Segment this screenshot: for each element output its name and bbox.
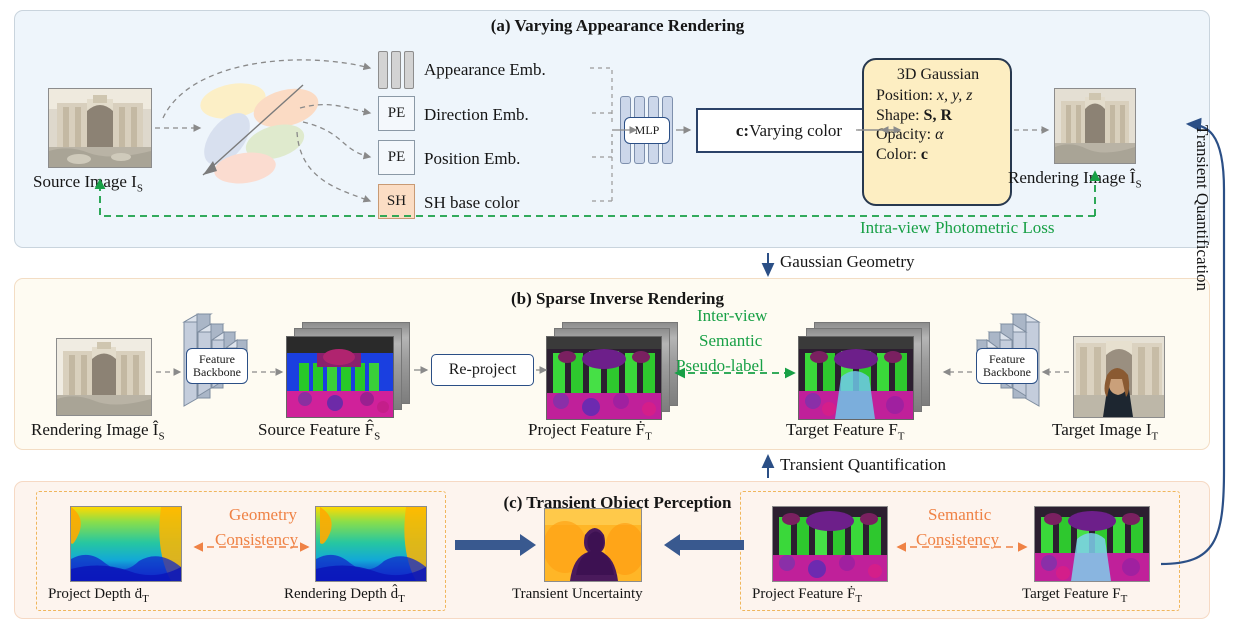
- gaussian-position-key: Position:: [876, 87, 933, 104]
- direction-emb-label: Direction Emb.: [424, 105, 529, 125]
- gaussian-color-row: Color: c: [876, 145, 1000, 165]
- target-feature-label-c-sub: T: [1121, 593, 1128, 605]
- feature-backbone-left-line2: Backbone: [193, 366, 241, 379]
- varying-color-box: c: Varying color: [696, 108, 882, 153]
- source-feature-label-text: Source Feature F̂: [258, 420, 374, 439]
- transient-uncertainty-label: Transient Uncertainty: [512, 586, 643, 603]
- rendering-image-thumbnail-a: [1054, 88, 1136, 164]
- project-feature-label-c-sub: T: [855, 593, 862, 605]
- source-image-thumbnail: [48, 88, 152, 168]
- geometry-consistency-line2: Consistency: [215, 530, 298, 550]
- rendering-image-thumbnail-b: [56, 338, 152, 416]
- appearance-emb-bar-3: [404, 51, 414, 89]
- varying-color-symbol: c:: [736, 121, 749, 141]
- project-feature-label-c-text: Project Feature Ḟ: [752, 586, 855, 602]
- feature-backbone-left-label: Feature Backbone: [186, 348, 248, 384]
- direction-emb-pe-box: PE: [378, 96, 415, 131]
- target-image-label: Target Image IT: [1052, 420, 1158, 442]
- source-feature-label: Source Feature F̂S: [258, 420, 380, 442]
- target-image-label-text: Target Image I: [1052, 420, 1152, 439]
- transient-quantification-side-label: Transient Quantification: [1192, 125, 1212, 291]
- feature-backbone-right-line2: Backbone: [983, 366, 1031, 379]
- sh-base-color-box: SH: [378, 184, 415, 219]
- 3d-gaussian-box: 3D Gaussian Position: x, y, z Shape: S, …: [862, 58, 1012, 206]
- target-image-label-sub: T: [1152, 430, 1159, 442]
- target-feature-map-c: [1034, 506, 1150, 582]
- panel-a-title: (a) Varying Appearance Rendering: [0, 16, 1235, 36]
- feature-backbone-left-line1: Feature: [199, 353, 235, 366]
- sh-tag: SH: [387, 193, 406, 210]
- intra-view-photometric-loss-label: Intra-view Photometric Loss: [860, 218, 1055, 238]
- rendering-depth-map: [315, 506, 427, 582]
- project-feature-label-b: Project Feature ḞT: [528, 420, 652, 442]
- rendering-depth-label-sub: T: [398, 593, 405, 605]
- transient-uncertainty-map: [544, 508, 642, 582]
- sh-base-color-label: SH base color: [424, 193, 519, 213]
- reproject-box: Re-project: [431, 354, 534, 386]
- gaussian-shape-row: Shape: S, R: [876, 106, 1000, 126]
- source-image-label-text: Source Image I: [33, 172, 137, 191]
- target-image-thumbnail: [1073, 336, 1165, 418]
- rendering-image-label-a-text: Rendering Image Î: [1008, 168, 1135, 187]
- gaussian-color-key: Color:: [876, 146, 917, 163]
- appearance-emb-label: Appearance Emb.: [424, 60, 546, 80]
- pseudo-label-line2: Semantic: [699, 331, 762, 351]
- gaussian-position-value: x, y, z: [933, 87, 973, 104]
- pseudo-label-line3: Pseudo-label: [676, 356, 764, 376]
- target-feature-label-c: Target Feature FT: [1022, 586, 1127, 605]
- project-feature-stack-b: [546, 322, 686, 426]
- feature-backbone-right-line1: Feature: [989, 353, 1025, 366]
- gaussian-shape-value: S, R: [920, 107, 952, 124]
- source-image-label-sub: S: [137, 182, 143, 194]
- semantic-consistency-line2: Consistency: [916, 530, 999, 550]
- target-feature-label-b: Target Feature FT: [786, 420, 905, 442]
- project-feature-map-c: [772, 506, 888, 582]
- reproject-label: Re-project: [449, 361, 517, 379]
- gaussian-opacity-value: α: [931, 126, 943, 143]
- pseudo-label-line1: Inter-view: [697, 306, 767, 326]
- project-depth-label: Project Depth ḋT: [48, 586, 149, 605]
- feature-backbone-right-label: Feature Backbone: [976, 348, 1038, 384]
- panel-b-title: (b) Sparse Inverse Rendering: [0, 289, 1235, 309]
- project-depth-label-text: Project Depth ḋ: [48, 586, 142, 602]
- gaussian-title: 3D Gaussian: [876, 66, 1000, 84]
- position-emb-label: Position Emb.: [424, 149, 520, 169]
- project-feature-label-b-text: Project Feature Ḟ: [528, 420, 645, 439]
- target-feature-label-c-text: Target Feature F: [1022, 586, 1121, 602]
- geometry-consistency-line1: Geometry: [229, 505, 297, 525]
- rendering-image-label-b-sub: S: [158, 430, 164, 442]
- source-image-label: Source Image IS: [33, 172, 143, 194]
- mlp-label: MLP: [635, 123, 660, 138]
- gaussian-opacity-key: Opacity:: [876, 126, 931, 143]
- gaussian-geometry-label: Gaussian Geometry: [780, 252, 915, 272]
- gaussian-position-row: Position: x, y, z: [876, 86, 1000, 106]
- varying-color-text: Varying color: [749, 121, 842, 141]
- source-feature-stack: [286, 322, 412, 422]
- gaussian-shape-key: Shape:: [876, 107, 920, 124]
- pe-tag-direction: PE: [388, 105, 406, 122]
- target-feature-stack-b: [798, 322, 938, 426]
- panel-varying-appearance-rendering: [14, 10, 1210, 248]
- position-emb-pe-box: PE: [378, 140, 415, 175]
- target-feature-label-b-sub: T: [898, 430, 905, 442]
- rendering-image-label-a-sub: S: [1135, 178, 1141, 190]
- target-feature-label-b-text: Target Feature F: [786, 420, 898, 439]
- rendering-image-label-a: Rendering Image ÎS: [1008, 168, 1142, 190]
- source-feature-label-sub: S: [374, 430, 380, 442]
- gaussian-opacity-row: Opacity: α: [876, 125, 1000, 145]
- appearance-emb-bar-1: [378, 51, 388, 89]
- project-depth-map: [70, 506, 182, 582]
- rendering-depth-label-text: Rendering Depth d̂: [284, 586, 398, 602]
- appearance-emb-bar-2: [391, 51, 401, 89]
- project-feature-label-b-sub: T: [645, 430, 652, 442]
- gaussian-color-value: c: [917, 146, 928, 163]
- rendering-image-label-b-text: Rendering Image Î: [31, 420, 158, 439]
- transient-quantification-up-label: Transient Quantification: [780, 455, 946, 475]
- rendering-depth-label: Rendering Depth d̂T: [284, 586, 405, 605]
- pe-tag-position: PE: [388, 149, 406, 166]
- project-depth-label-sub: T: [142, 593, 149, 605]
- mlp-block: MLP: [620, 96, 676, 164]
- semantic-consistency-line1: Semantic: [928, 505, 991, 525]
- rendering-image-label-b: Rendering Image ÎS: [31, 420, 165, 442]
- project-feature-label-c: Project Feature ḞT: [752, 586, 862, 605]
